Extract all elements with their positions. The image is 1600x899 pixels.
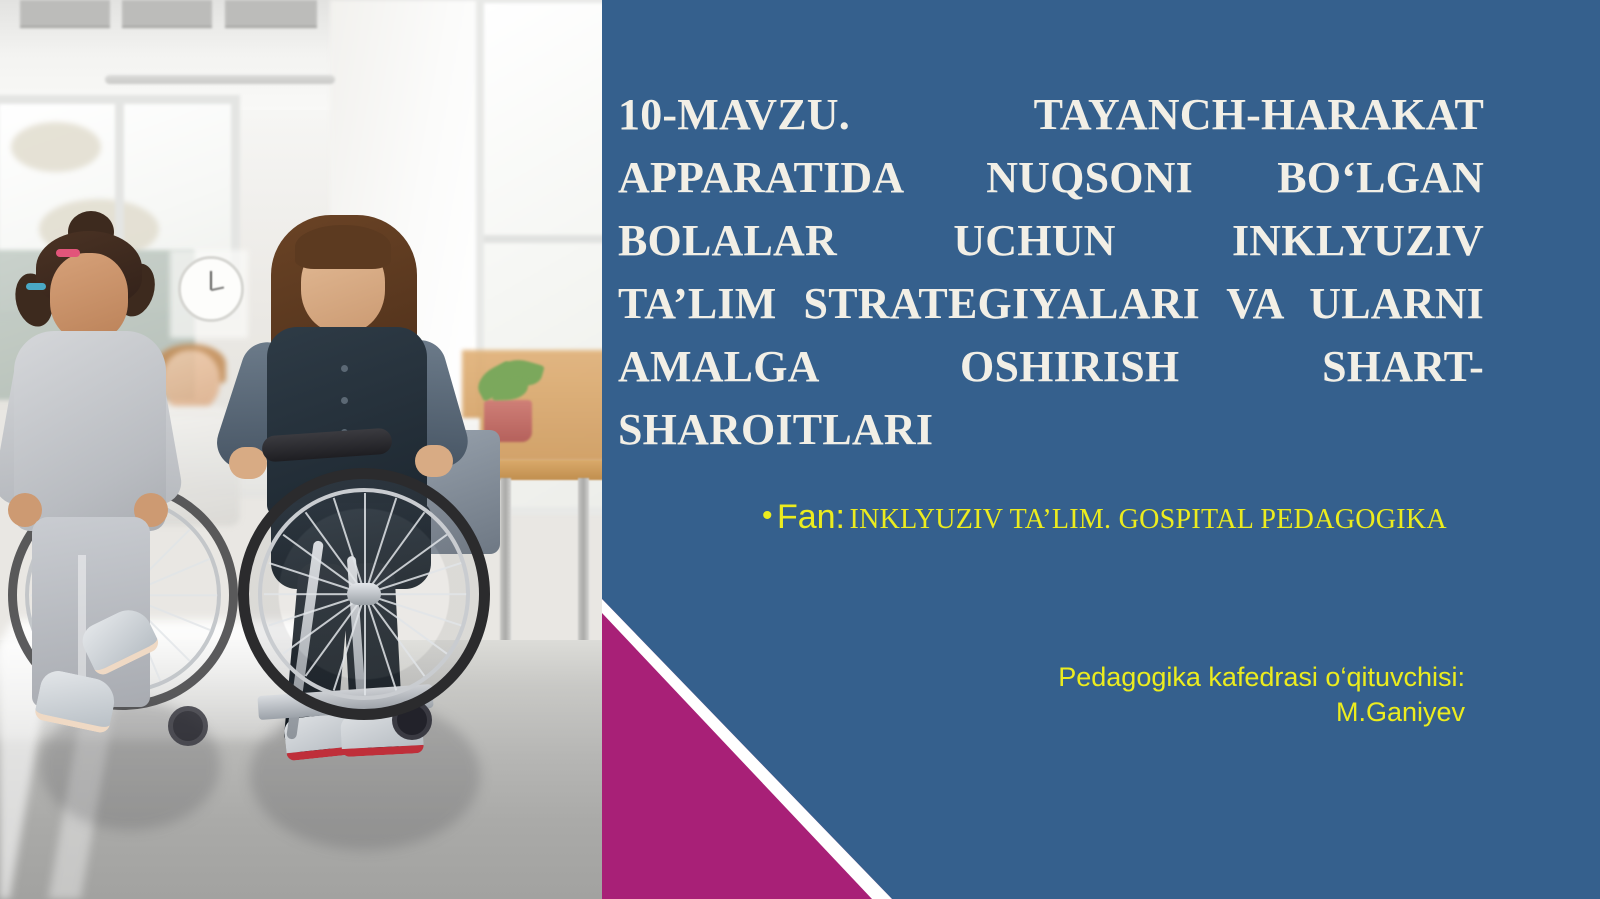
curtain-rail xyxy=(105,75,335,84)
subject-label: Fan: xyxy=(777,498,845,536)
author-block: Pedagogika kafedrasi o‘qituvchisi: M.Gan… xyxy=(932,660,1465,730)
wall-clock xyxy=(178,256,244,322)
ceiling-vent xyxy=(122,0,212,28)
title-line-5: AMALGA OSHIRISH SHART- xyxy=(618,335,1484,398)
title-line-6: SHAROITLARI xyxy=(618,398,1484,461)
slide-title: 10-MAVZU. TAYANCH-HARAKAT APPARATIDA NUQ… xyxy=(618,83,1484,461)
wheelchair-wheel-front xyxy=(238,468,490,720)
subject-value: INKLYUZIV TA’LIM. GOSPITAL PEDAGOGIKA xyxy=(849,504,1446,535)
title-line-2: APPARATIDA NUQSONI BO‘LGAN xyxy=(618,146,1484,209)
magenta-triangle-decoration xyxy=(602,599,892,899)
ceiling-vent xyxy=(225,0,317,28)
subject-line: • Fan: INKLYUZIV TA’LIM. GOSPITAL PEDAGO… xyxy=(762,498,1522,537)
content-panel: 10-MAVZU. TAYANCH-HARAKAT APPARATIDA NUQ… xyxy=(602,0,1600,899)
bullet-icon: • xyxy=(762,499,773,532)
title-line-1: 10-MAVZU. TAYANCH-HARAKAT xyxy=(618,83,1484,146)
slide-photo xyxy=(0,0,602,899)
author-name: M.Ganiyev xyxy=(932,695,1465,730)
title-line-4: TA’LIM STRATEGIYALARI VA ULARNI xyxy=(618,272,1484,335)
title-line-3: BOLALAR UCHUN INKLYUZIV xyxy=(618,209,1484,272)
ceiling-vent xyxy=(20,0,110,28)
wheelchair-castor xyxy=(168,706,208,746)
author-role: Pedagogika kafedrasi o‘qituvchisi: xyxy=(932,660,1465,695)
presentation-slide: 10-MAVZU. TAYANCH-HARAKAT APPARATIDA NUQ… xyxy=(0,0,1600,899)
child-running xyxy=(10,225,175,685)
